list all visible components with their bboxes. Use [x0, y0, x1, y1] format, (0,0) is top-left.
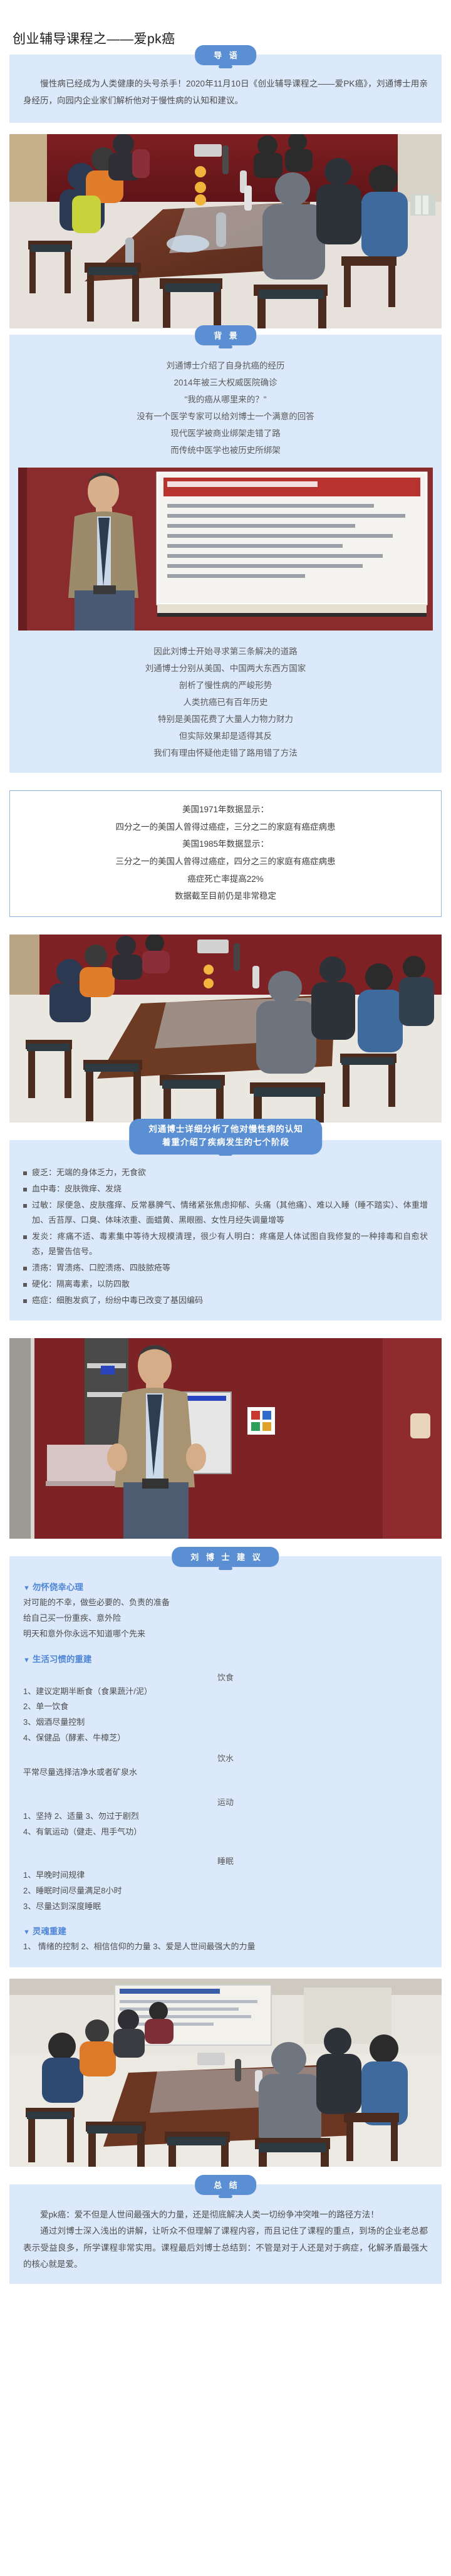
third-road-line: 特别是美国花费了大量人力物力财力: [23, 711, 428, 728]
meeting-room-discussion-photo: [9, 1979, 442, 2167]
summary-paragraph: 通过刘博士深入浅出的讲解，让听众不但理解了课程内容，而且记住了课程的重点，到场的…: [23, 2223, 428, 2273]
triangle-down-icon: ▼: [23, 1657, 30, 1664]
advice-group-heading-0: ▼勿怀侥幸心理: [23, 1580, 428, 1593]
advice-panel: ▼勿怀侥幸心理 对可能的不幸，做些必要的、负责的准备 给自己买一份重疾、意外险 …: [9, 1556, 442, 1967]
intro-paragraph: 慢性病已经成为人类健康的头号杀手！2020年11月10日《创业辅导课程之——爱P…: [23, 76, 428, 109]
advice-line: 2、睡眠时间尽量满足8小时: [23, 1883, 428, 1899]
pill-dash-intro: [219, 65, 232, 68]
advice-line: 3、烟酒尽量控制: [23, 1715, 428, 1730]
advice-line: 1、早晚时间规律: [23, 1868, 428, 1883]
background-line: 而传统中医学也被历史所绑架: [23, 442, 428, 459]
pill-dash-background: [219, 345, 232, 348]
third-road-line: 人类抗癌已有百年历史: [23, 694, 428, 711]
advice-line: 1、 情绪的控制 2、相信信仰的力量 3、爱是人世间最强大的力量: [23, 1939, 428, 1955]
list-item: 发炎：疼痛不适、毒素集中等待大规模清理，很少有人明白：疼痛是人体试图自我修复的一…: [23, 1229, 428, 1259]
pill-dash-advice: [219, 1567, 232, 1570]
triangle-down-icon: ▼: [23, 1929, 30, 1936]
pill-dash-summary: [219, 2195, 232, 2198]
summary-paragraph: 爱pk癌：爱不但是人世间最强大的力量，还是彻底解决人类一切纷争冲突唯一的路径方法…: [23, 2207, 428, 2223]
background-panel: 刘通博士介绍了自身抗癌的经历 2014年被三大权威医院确诊 "我的癌从哪里来的？…: [9, 335, 442, 468]
section-pill-advice: 刘 博 士 建 议: [172, 1547, 279, 1567]
advice-line: 明天和意外你永远不知道哪个先来: [23, 1626, 428, 1642]
third-road-lines: 因此刘博士开始寻求第三条解决的道路 刘通博士分别从美国、中国两大东西方国家 剖析…: [23, 643, 428, 762]
page-bottom-spacer: [0, 2284, 451, 2359]
quote-line: 美国1985年数据显示：: [16, 835, 435, 853]
advice-line: 1、建议定期半断食（食果蔬汁/泥）: [23, 1684, 428, 1700]
advice-line: 4、有氧运动（健走、甩手气功）: [23, 1825, 428, 1840]
spacer: [0, 1967, 451, 1979]
third-road-line: 刘通博士分别从美国、中国两大东西方国家: [23, 660, 428, 677]
advice-line: 平常尽量选择洁净水或者矿泉水: [23, 1765, 428, 1781]
background-line: 现代医学被商业绑架走错了路: [23, 425, 428, 442]
background-lines: 刘通博士介绍了自身抗癌的经历 2014年被三大权威医院确诊 "我的癌从哪里来的？…: [23, 357, 428, 459]
quote-line: 数据截至目前仍是非常稳定: [16, 887, 435, 905]
quote-line: 癌症死亡率提高22%: [16, 871, 435, 888]
spacer: [0, 773, 451, 779]
pill-dash-seven-stages: [219, 1153, 232, 1156]
quote-line: 三分之一的美国人曾得过癌症，四分之三的家庭有癌症病患: [16, 853, 435, 871]
list-item: 硬化：隔离毒素，以防四散: [23, 1277, 428, 1292]
spacer: [0, 1321, 451, 1338]
subcategory-title-water: 饮水: [23, 1752, 428, 1764]
seven-stages-pill-line: 着重介绍了疾病发生的七个阶段: [148, 1136, 303, 1149]
subcategory-title-exercise: 运动: [23, 1796, 428, 1808]
list-item: 疲乏：无端的身体乏力，无食欲: [23, 1165, 428, 1180]
seven-stages-list: 疲乏：无端的身体乏力，无食欲 血中毒：皮肤微痒、发烧 过敏：尿便急、皮肤瘙痒、反…: [23, 1165, 428, 1308]
advice-group-heading-2: ▼灵魂重建: [23, 1924, 428, 1937]
list-item: 过敏：尿便急、皮肤瘙痒、反常暴脾气、情绪紧张焦虑抑郁、头痛（其他痛）、难以入睡（…: [23, 1198, 428, 1228]
quote-line: 美国1971年数据显示：: [16, 801, 435, 819]
advice-line: 2、单一饮食: [23, 1699, 428, 1715]
advice-heading-text: 勿怀侥幸心理: [33, 1583, 83, 1592]
third-road-panel: 因此刘博士开始寻求第三条解决的道路 刘通博士分别从美国、中国两大东西方国家 剖析…: [9, 631, 442, 773]
background-line: 2014年被三大权威医院确诊: [23, 374, 428, 391]
article-page: 创业辅导课程之——爱pk癌 导 语 慢性病已经成为人类健康的头号杀手！2020年…: [0, 0, 451, 2359]
section-pill-background: 背 景: [195, 325, 256, 345]
speaker-with-slide-photo: [9, 468, 442, 631]
background-line: 没有一个医学专家可以给刘博士一个满意的回答: [23, 408, 428, 425]
background-line: 刘通博士介绍了自身抗癌的经历: [23, 357, 428, 374]
subcategory-title-diet: 饮食: [23, 1671, 428, 1683]
third-road-line: 剖析了慢性病的严峻形势: [23, 677, 428, 694]
third-road-line: 但实际效果却是适得其反: [23, 728, 428, 745]
advice-line: 1、坚持 2、适量 3、勿过于剧烈: [23, 1809, 428, 1825]
spacer: [0, 917, 451, 935]
advice-line: 给自己买一份重疾、意外险: [23, 1611, 428, 1626]
spacer: [23, 1781, 428, 1789]
seven-stages-panel: 疲乏：无端的身体乏力，无食欲 血中毒：皮肤微痒、发烧 过敏：尿便急、皮肤瘙痒、反…: [9, 1140, 442, 1321]
section-pill-intro: 导 语: [195, 45, 256, 65]
spacer: [23, 1914, 428, 1923]
advice-group-heading-1: ▼生活习惯的重建: [23, 1652, 428, 1665]
quote-line: 四分之一的美国人曾得过癌症，三分之二的家庭有癌症病患: [16, 819, 435, 836]
section-pill-seven-stages: 刘通博士详细分析了他对慢性病的认知 着重介绍了疾病发生的七个阶段: [129, 1119, 322, 1154]
summary-panel: 爱pk癌：爱不但是人世间最强大的力量，还是彻底解决人类一切纷争冲突唯一的路径方法…: [9, 2184, 442, 2284]
statistics-quote-box: 美国1971年数据显示： 四分之一的美国人曾得过癌症，三分之二的家庭有癌症病患 …: [9, 790, 442, 917]
list-item: 癌症：细胞发疯了，纷纷中毒已改变了基因编码: [23, 1293, 428, 1308]
advice-line: 3、尽量达到深度睡眠: [23, 1899, 428, 1915]
triangle-down-icon: ▼: [23, 1584, 30, 1592]
meeting-room-attendees-photo: [9, 935, 442, 1123]
list-item: 溃疡：胃溃疡、口腔溃疡、四肢脓疮等: [23, 1260, 428, 1275]
list-item: 血中毒：皮肤微痒、发烧: [23, 1181, 428, 1196]
section-pill-summary: 总 结: [195, 2175, 256, 2195]
spacer: [23, 1840, 428, 1848]
third-road-line: 我们有理由怀疑他走错了路用错了方法: [23, 745, 428, 762]
article-title-text: 创业辅导课程之——爱pk癌: [13, 32, 175, 46]
advice-line: 4、保健品（酵素、牛樟芝）: [23, 1730, 428, 1746]
background-line: "我的癌从哪里来的？": [23, 391, 428, 408]
meeting-room-overview-photo: [9, 134, 442, 328]
speaker-standing-photo: [9, 1338, 442, 1539]
spacer: [23, 1642, 428, 1651]
quote-lines: 美国1971年数据显示： 四分之一的美国人曾得过癌症，三分之二的家庭有癌症病患 …: [16, 801, 435, 905]
advice-heading-text: 灵魂重建: [33, 1927, 66, 1936]
third-road-line: 因此刘博士开始寻求第三条解决的道路: [23, 643, 428, 660]
spacer: [0, 123, 451, 134]
subcategory-title-sleep: 睡眠: [23, 1855, 428, 1867]
seven-stages-pill-line: 刘通博士详细分析了他对慢性病的认知: [148, 1123, 303, 1136]
advice-line: 对可能的不幸，做些必要的、负责的准备: [23, 1595, 428, 1611]
advice-heading-text: 生活习惯的重建: [33, 1655, 92, 1664]
